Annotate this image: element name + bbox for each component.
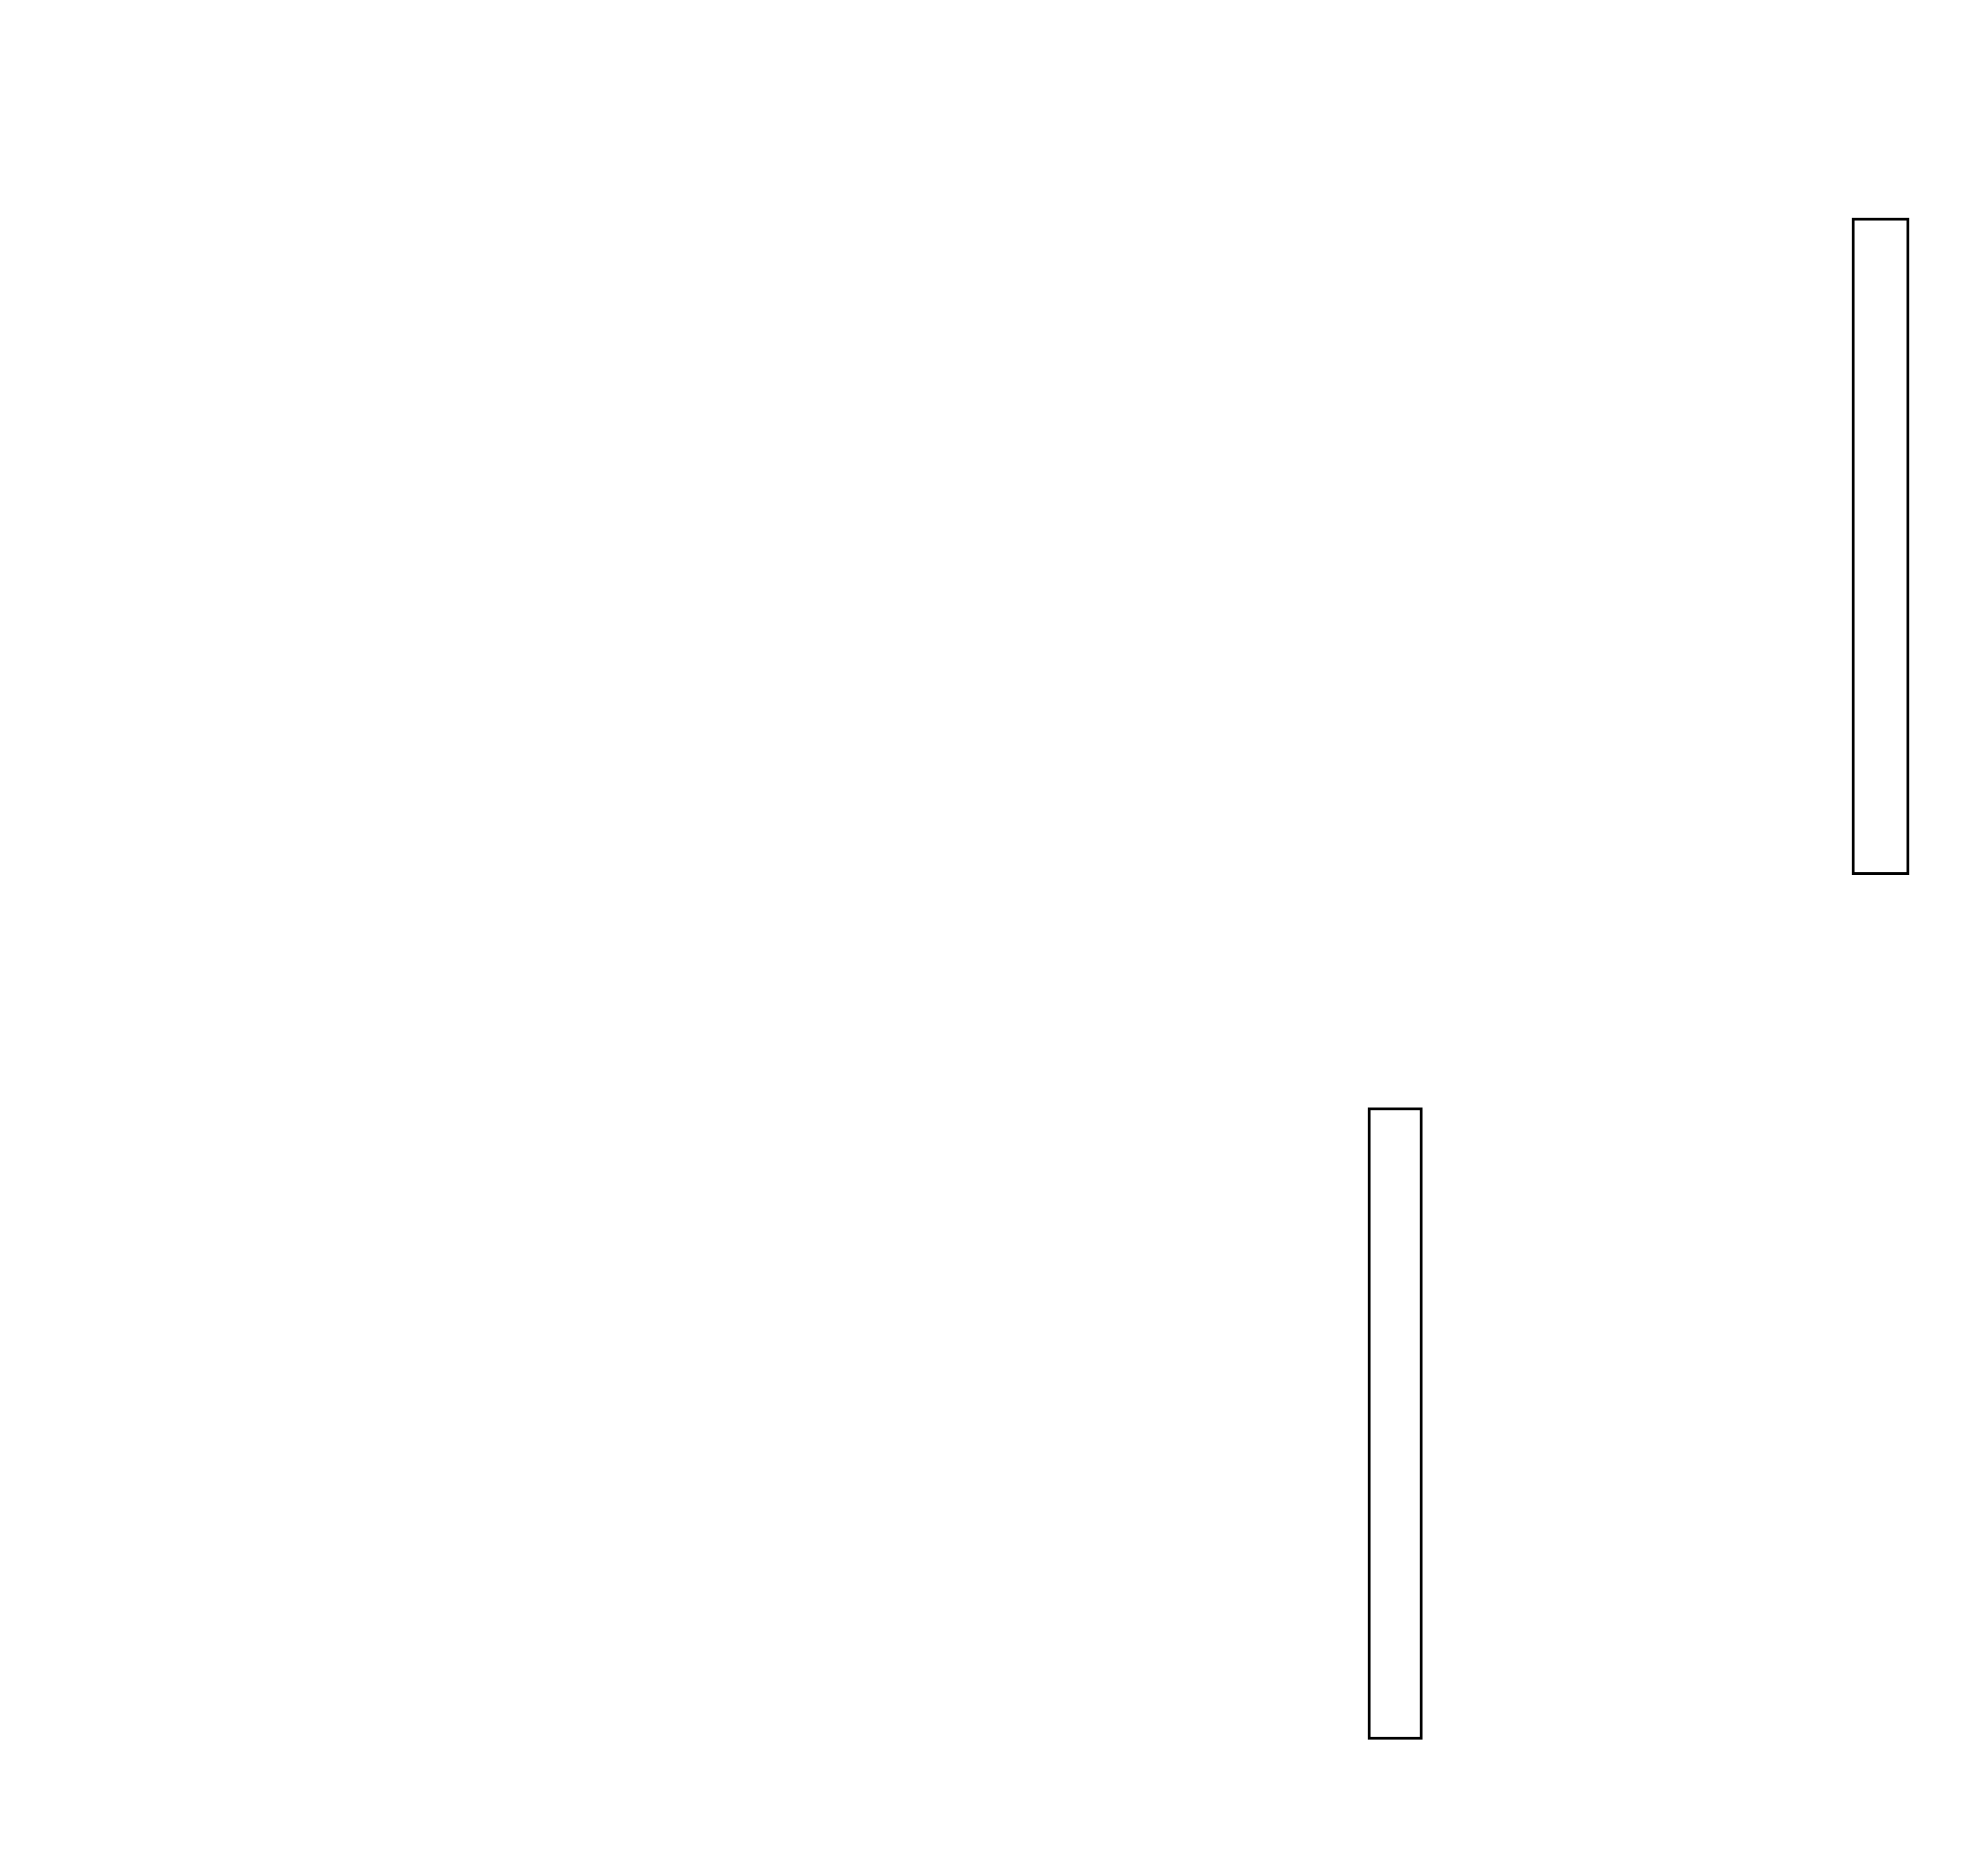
map-baseline[interactable] (1054, 169, 1798, 885)
colorbar-top-gradient (1852, 218, 1909, 875)
colorbar-difference[interactable] (1368, 1108, 1501, 1740)
map-difference[interactable] (618, 1067, 1328, 1777)
colorbar-top[interactable] (1852, 218, 1985, 875)
colorbar-difference-gradient (1368, 1108, 1423, 1740)
map-test[interactable] (126, 169, 871, 885)
figure-canvas (0, 0, 1988, 1873)
